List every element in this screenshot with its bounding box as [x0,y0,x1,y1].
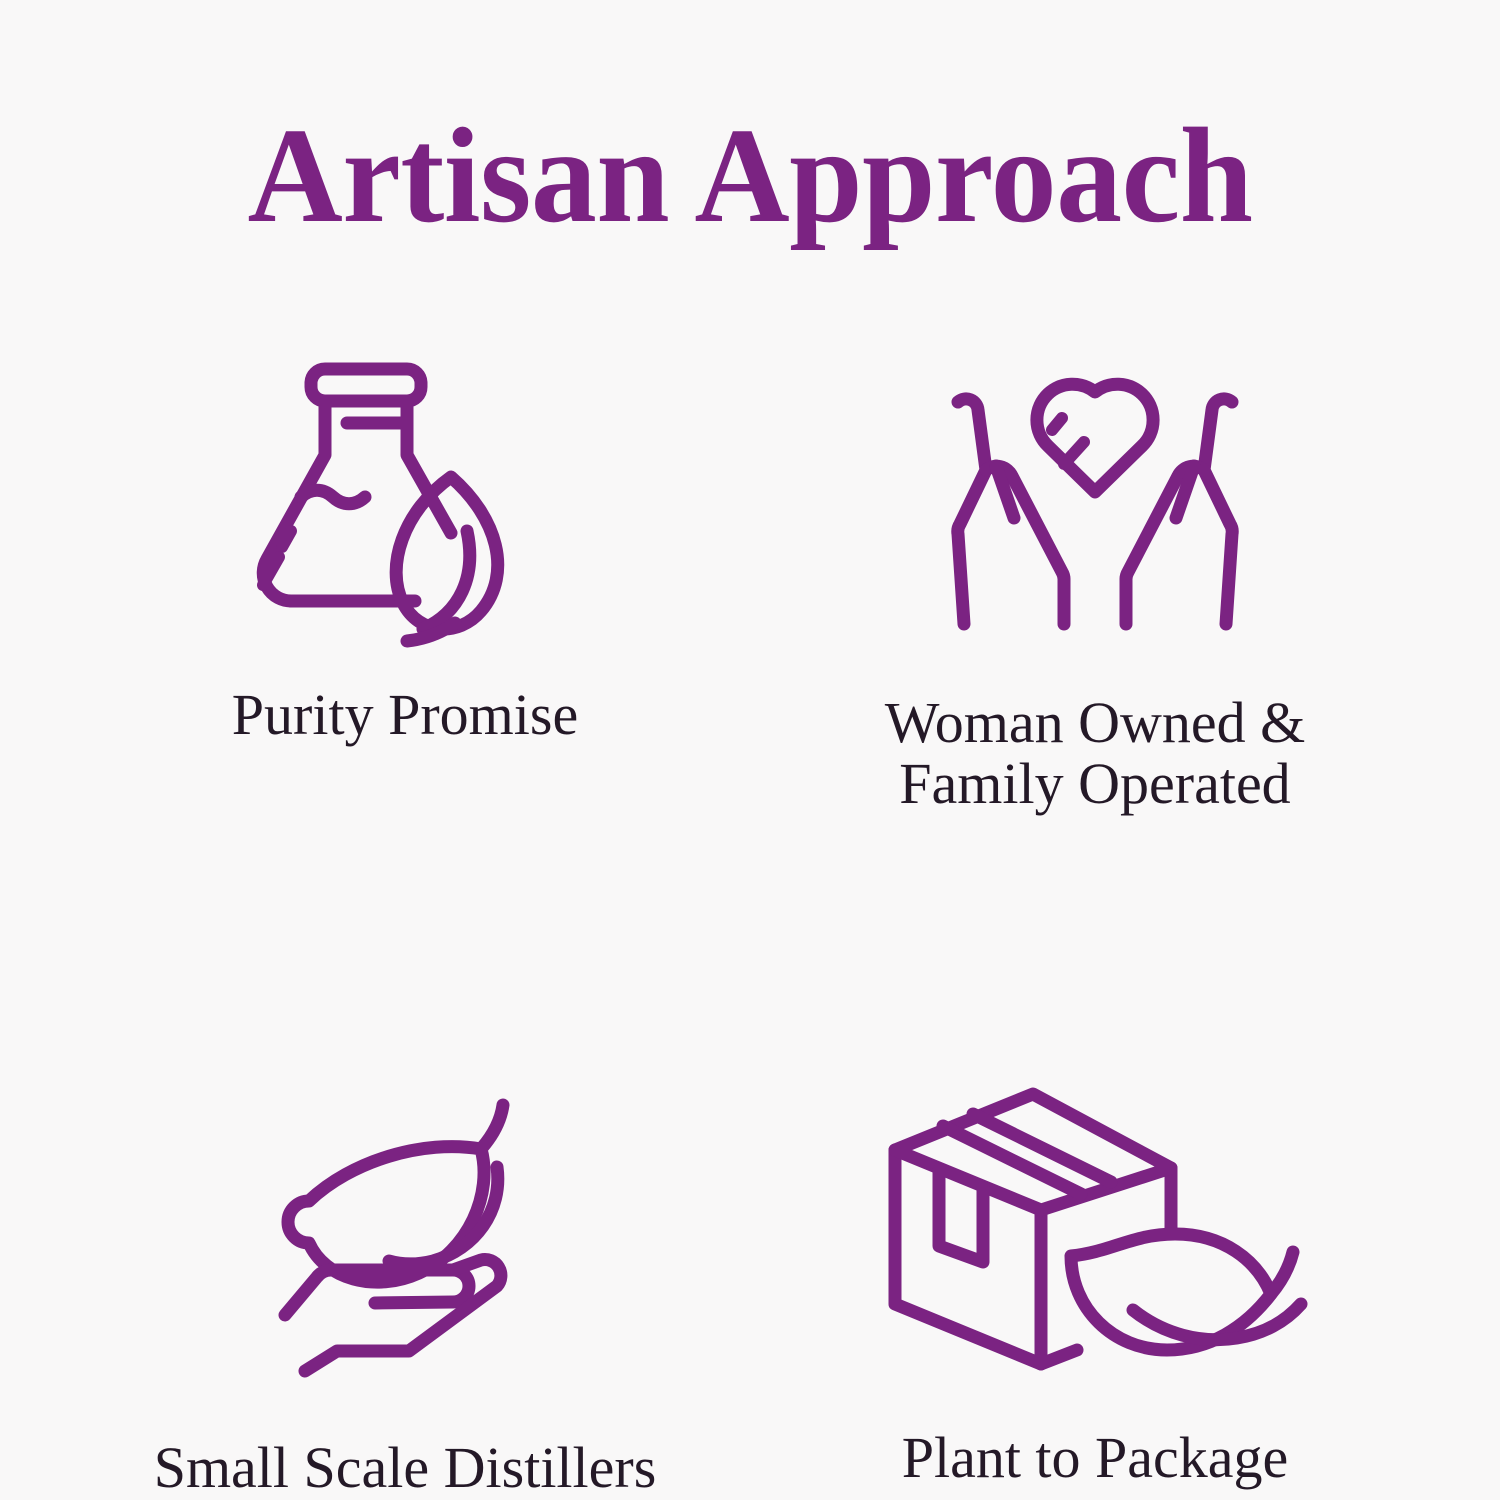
feature-label-purity-promise: Purity Promise [222,684,588,745]
feature-label-small-scale-distillers: Small Scale Distillers [144,1437,667,1498]
artisan-approach-panel: Artisan Approach [0,0,1500,1500]
hands-holding-heart-icon-box [750,352,1440,652]
box-leaf-icon [885,1082,1305,1372]
feature-label-plant-to-package: Plant to Package [892,1427,1299,1488]
hands-holding-heart-icon [930,362,1260,642]
leaf-in-hand-icon-box [60,1087,750,1387]
feature-item-small-scale-distillers: Small Scale Distillers [60,815,750,1498]
feature-label-woman-owned: Woman Owned & Family Operated [875,692,1316,815]
flask-leaf-icon [255,351,555,651]
feature-item-purity-promise: Purity Promise [60,330,750,815]
box-leaf-icon-box [750,1077,1440,1377]
feature-grid: Purity Promise [60,330,1440,1410]
flask-leaf-icon-box [60,342,750,660]
feature-item-plant-to-package: Plant to Package [750,815,1440,1498]
leaf-in-hand-icon [275,1097,535,1377]
feature-item-woman-owned: Woman Owned & Family Operated [750,330,1440,815]
page-title: Artisan Approach [247,108,1252,244]
page-title-wrap: Artisan Approach [0,108,1500,244]
